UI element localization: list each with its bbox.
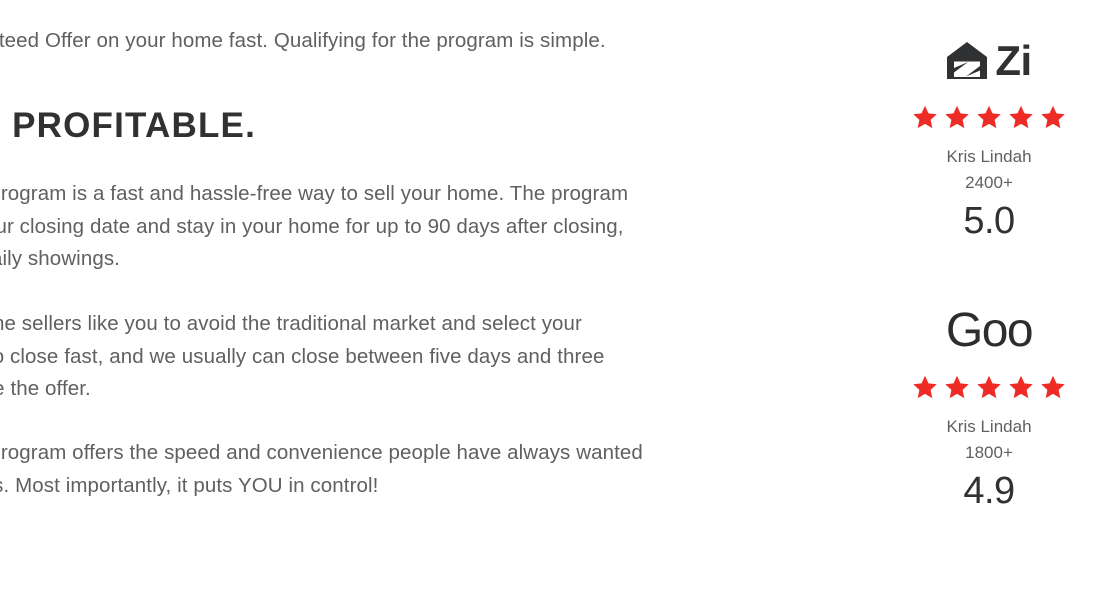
star-icon bbox=[1007, 374, 1035, 401]
star-icon bbox=[975, 104, 1003, 131]
google-wordmark: Goo bbox=[946, 307, 1032, 355]
star-icon bbox=[943, 374, 971, 401]
body-paragraph-2: m allows home sellers like you to avoid … bbox=[0, 308, 888, 406]
star-icon bbox=[943, 104, 971, 131]
main-content: get a Guaranteed Offer on your home fast… bbox=[0, 0, 888, 600]
page-title: . FAST. PROFITABLE. bbox=[0, 100, 256, 152]
review-score: 5.0 bbox=[883, 198, 1095, 244]
review-count: 2400+ bbox=[883, 172, 1095, 194]
paragraph-line: to choose your closing date and stay in … bbox=[0, 211, 888, 244]
zillow-logo: Zi bbox=[883, 34, 1095, 88]
review-badge-zillow[interactable]: Zi Kris Lindah 2400+ 5.0 bbox=[883, 34, 1095, 244]
star-icon bbox=[975, 374, 1003, 401]
paragraph-line: m allows home sellers like you to avoid … bbox=[0, 308, 888, 341]
google-logo: Goo bbox=[883, 304, 1095, 358]
review-badge-rail: Zi Kris Lindah 2400+ 5.0 Goo bbox=[883, 0, 1095, 600]
zillow-wordmark: Zi bbox=[995, 40, 1031, 82]
zillow-house-icon bbox=[946, 41, 988, 81]
star-rating-google bbox=[883, 374, 1095, 402]
lede-paragraph: get a Guaranteed Offer on your home fast… bbox=[0, 24, 878, 58]
star-icon bbox=[911, 104, 939, 131]
review-badge-google[interactable]: Goo Kris Lindah 1800+ 4.9 bbox=[883, 304, 1095, 514]
star-icon bbox=[1039, 374, 1067, 401]
paragraph-line: e. We work to close fast, and we usually… bbox=[0, 341, 888, 374]
review-score: 4.9 bbox=[883, 468, 1095, 514]
paragraph-line: g their homes. Most importantly, it puts… bbox=[0, 470, 888, 503]
review-source-name: Kris Lindah bbox=[883, 416, 1095, 438]
review-count: 1800+ bbox=[883, 442, 1095, 464]
paragraph-line: r you approve the offer. bbox=[0, 373, 888, 406]
star-icon bbox=[1039, 104, 1067, 131]
paragraph-line: nteed Offer Program is a fast and hassle… bbox=[0, 178, 888, 211]
star-icon bbox=[911, 374, 939, 401]
star-rating-zillow bbox=[883, 104, 1095, 132]
body-paragraph-3: nteed Offer Program offers the speed and… bbox=[0, 437, 888, 502]
body-paragraph-1: nteed Offer Program is a fast and hassle… bbox=[0, 178, 888, 276]
page-root: get a Guaranteed Offer on your home fast… bbox=[0, 0, 1095, 600]
star-icon bbox=[1007, 104, 1035, 131]
paragraph-line: e stress of daily showings. bbox=[0, 243, 888, 276]
review-source-name: Kris Lindah bbox=[883, 146, 1095, 168]
paragraph-line: nteed Offer Program offers the speed and… bbox=[0, 437, 888, 470]
